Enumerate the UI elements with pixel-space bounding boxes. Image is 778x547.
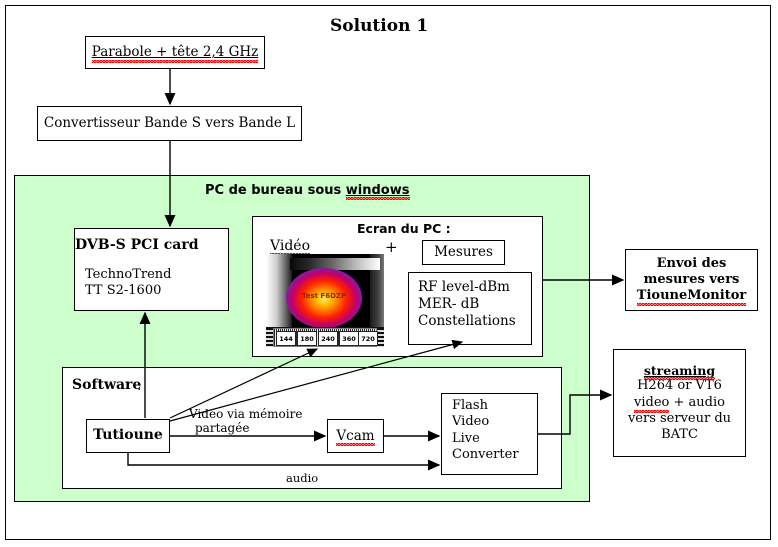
node-pc-screen-title: Ecran du PC : xyxy=(357,221,451,236)
streaming-audio-word: + audio xyxy=(669,395,725,410)
video-overlay-text: Test F6DZP xyxy=(294,292,354,300)
film-sprocket-left-icon xyxy=(266,328,273,347)
video-label-text: Vidéo xyxy=(270,238,310,254)
node-dvb-line1: TechnoTrend xyxy=(85,267,171,283)
pc-desktop-label: PC de bureau sous windows xyxy=(205,183,410,198)
node-convertisseur-label: Convertisseur Bande S vers Bande L xyxy=(44,115,295,132)
node-parabole-label: Parabole + tête 2,4 GHz xyxy=(92,44,259,61)
node-mesures-label: Mesures xyxy=(434,244,493,261)
film-sprocket-right-icon xyxy=(377,328,384,347)
edge-label-video-memory-l2: partagée xyxy=(195,422,302,436)
node-vcam[interactable]: Vcam xyxy=(327,419,384,453)
video-label: Vidéo xyxy=(270,238,310,254)
streaming-media: video + audio xyxy=(634,395,725,411)
edge-label-video-memory-l1: Video via mémoire xyxy=(189,408,302,422)
streaming-codec: H264 or VT6 xyxy=(637,378,722,394)
node-tutioune[interactable]: Tutioune xyxy=(86,419,170,453)
plus-sign: + xyxy=(385,238,398,256)
node-measures-detail[interactable]: RF level-dBm MER- dB Constellations xyxy=(408,272,532,345)
live-label: Live xyxy=(452,431,480,447)
video-res-chip: 144 xyxy=(276,331,296,346)
video-thumbnail: Test F6DZP 144 180 240 360 720 xyxy=(266,254,384,347)
video-resolution-bar: 144 180 240 360 720 xyxy=(266,327,384,347)
video-res-chip: 360 xyxy=(339,331,359,346)
measure-constellations: Constellations xyxy=(418,313,516,330)
flash-label: Flash xyxy=(452,398,488,414)
streaming-title: streaming xyxy=(644,363,715,379)
pc-label-windows: windows xyxy=(346,183,410,198)
video-res-chip: 180 xyxy=(297,331,317,346)
edge-label-video-memory: Video via mémoire partagée xyxy=(189,408,302,436)
node-vcam-label: Vcam xyxy=(336,428,374,445)
node-parabole[interactable]: Parabole + tête 2,4 GHz xyxy=(85,36,265,69)
video-label-2: Video xyxy=(452,414,489,430)
node-envoi-mesures[interactable]: Envoi des mesures vers TiouneMonitor xyxy=(625,249,758,311)
software-colon: : xyxy=(137,379,141,394)
node-tutioune-label: Tutioune xyxy=(93,427,163,445)
node-streaming[interactable]: streaming H264 or VT6 video + audio vers… xyxy=(613,349,746,457)
node-mesures[interactable]: Mesures xyxy=(422,240,505,265)
node-dvb-title: DVB-S PCI card xyxy=(75,237,199,255)
envoi-line-3: TiouneMonitor xyxy=(637,288,746,304)
node-convertisseur[interactable]: Convertisseur Bande S vers Bande L xyxy=(37,106,302,141)
streaming-dest: vers serveur du xyxy=(628,411,731,427)
page-title: Solution 1 xyxy=(330,16,428,36)
video-res-chip: 720 xyxy=(358,331,378,346)
envoi-line-2: mesures vers xyxy=(644,272,740,288)
node-dvb-card[interactable]: DVB-S PCI card TechnoTrend TT S2-1600 xyxy=(74,228,229,311)
pc-label-text: PC de bureau sous xyxy=(205,183,346,198)
envoi-line-1: Envoi des xyxy=(657,256,727,272)
measure-rf-level: RF level-dBm xyxy=(418,279,510,296)
edge-label-audio: audio xyxy=(286,472,318,485)
measure-mer: MER- dB xyxy=(418,296,479,313)
video-grayscale-band xyxy=(290,258,380,270)
converter-label: Converter xyxy=(452,447,519,463)
streaming-video-word: video xyxy=(634,395,669,411)
diagram-canvas: Solution 1 PC de bureau sous windows Par… xyxy=(0,0,778,547)
node-dvb-line2: TT S2-1600 xyxy=(85,283,161,299)
software-label: Software xyxy=(72,377,141,393)
node-flash-converter[interactable]: Flash Video Live Converter xyxy=(441,393,538,475)
video-res-chip: 240 xyxy=(318,331,338,346)
streaming-batc: BATC xyxy=(661,427,698,443)
